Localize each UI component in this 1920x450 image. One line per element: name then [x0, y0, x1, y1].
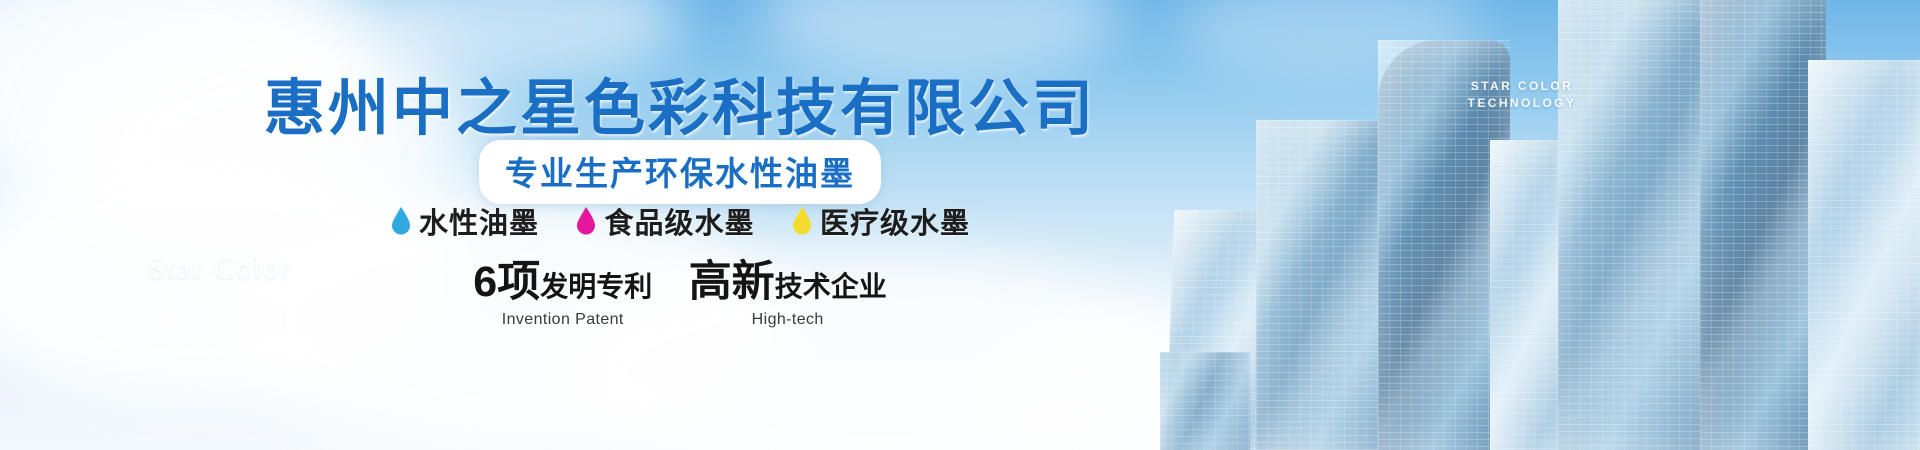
credential-subtitle: High-tech — [689, 311, 887, 329]
corner-watermark-line2: TECHNOLOGY — [1462, 95, 1582, 112]
credential-unit: 高新 — [689, 258, 775, 306]
banner-content: 惠州中之星色彩科技有限公司 专业生产环保水性油墨 水性油墨 食品级水墨 — [0, 0, 1360, 450]
credential-item: 6项发明专利 Invention Patent — [473, 262, 652, 329]
tagline-badge-row: 专业生产环保水性油墨 — [0, 140, 1360, 204]
list-item: 水性油墨 — [390, 200, 539, 242]
promo-banner: Star Color STAR COLOR TECHNOLOGY 惠州中之星色彩… — [0, 0, 1920, 450]
corner-watermark-line1: STAR COLOR — [1462, 78, 1582, 95]
credential-item: 高新技术企业 High-tech — [689, 262, 887, 329]
company-headline: 惠州中之星色彩科技有限公司 — [0, 58, 1360, 147]
product-feature-list: 水性油墨 食品级水墨 医疗级水墨 — [0, 200, 1360, 242]
list-item: 食品级水墨 — [575, 200, 754, 242]
credential-number: 6 — [473, 258, 497, 306]
water-drop-icon — [791, 206, 813, 236]
credentials-row: 6项发明专利 Invention Patent 高新技术企业 High-tech — [0, 262, 1360, 329]
feature-label: 水性油墨 — [419, 200, 539, 242]
tagline-badge: 专业生产环保水性油墨 — [479, 140, 881, 204]
feature-label: 医疗级水墨 — [820, 200, 970, 242]
credential-title: 高新技术企业 — [689, 262, 887, 307]
credential-rest: 发明专利 — [540, 271, 652, 302]
feature-label: 食品级水墨 — [604, 200, 754, 242]
corner-watermark: STAR COLOR TECHNOLOGY — [1462, 78, 1582, 112]
water-drop-icon — [390, 206, 412, 236]
building-shape — [1808, 60, 1920, 450]
credential-title: 6项发明专利 — [473, 262, 652, 307]
credential-rest: 技术企业 — [775, 271, 887, 302]
list-item: 医疗级水墨 — [791, 200, 970, 242]
water-drop-icon — [575, 206, 597, 236]
credential-subtitle: Invention Patent — [473, 311, 652, 329]
building-shape — [1558, 0, 1718, 450]
credential-unit: 项 — [497, 258, 540, 306]
